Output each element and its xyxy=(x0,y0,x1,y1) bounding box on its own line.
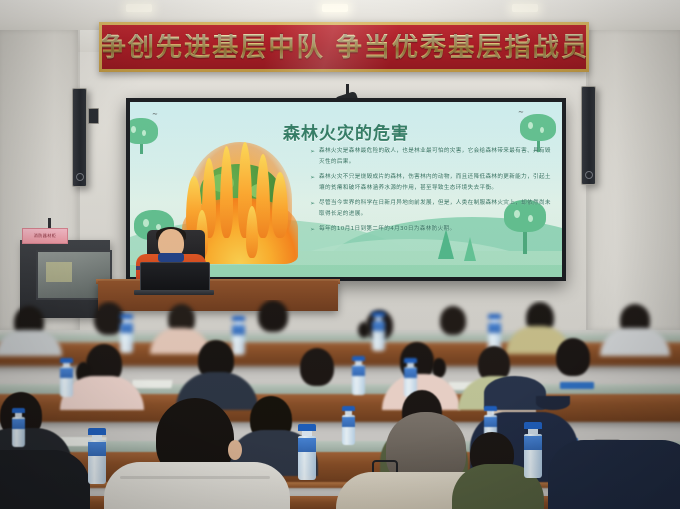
bottle-body xyxy=(524,434,542,478)
bullet-marker-icon: ➢ xyxy=(310,198,315,221)
audience-area xyxy=(0,300,680,509)
bird-icon-left: ∼ xyxy=(152,112,162,117)
bottle-label xyxy=(488,323,501,333)
bullet-marker-icon: ➢ xyxy=(310,224,315,236)
audience-head xyxy=(300,348,334,386)
water-bottle xyxy=(88,428,106,484)
audience-ear xyxy=(228,440,242,460)
presenter-laptop xyxy=(140,262,210,293)
audience-shoulders xyxy=(0,450,90,509)
bottle-body xyxy=(12,417,25,447)
wall-banner: 争创先进基层中队 争当优秀基层指战员 xyxy=(99,22,589,72)
bottle-cap xyxy=(88,428,106,435)
bottle-label xyxy=(12,419,25,429)
water-bottle xyxy=(352,356,365,395)
audience-head xyxy=(258,300,288,332)
bottle-label xyxy=(372,321,385,331)
wall-socket xyxy=(88,108,99,124)
water-bottle xyxy=(342,406,355,445)
bullet-marker-icon: ➢ xyxy=(310,146,315,169)
presenter-laptop-base xyxy=(134,290,214,295)
water-bottle xyxy=(298,424,316,480)
presenter-collar xyxy=(158,253,184,262)
bottle-body xyxy=(120,323,133,353)
slide-title: 森林火灾的危害 xyxy=(130,119,562,144)
jacket-collar-seam xyxy=(120,476,270,479)
bottle-label xyxy=(524,436,542,450)
water-bottle xyxy=(232,316,245,355)
tree-trunk xyxy=(140,144,143,154)
meeting-room-photo: 争创先进基层中队 争当优秀基层指战员 ∼ ∼ xyxy=(0,0,680,509)
wall-speaker-left xyxy=(72,88,87,187)
bullet-text: 每年的10月1日到第二年的4月30日为森林防火期。 xyxy=(319,224,552,236)
bottle-cap xyxy=(298,424,316,431)
audience-shoulders xyxy=(548,440,680,509)
slide-bullet: ➢ 每年的10月1日到第二年的4月30日为森林防火期。 xyxy=(310,224,552,236)
bullet-marker-icon: ➢ xyxy=(310,172,315,195)
bottle-label xyxy=(120,323,133,333)
slide-bullet: ➢ 尽管当今世界的科学在日新月异地向前发展，但是，人类在制服森林火灾上，却依然尚… xyxy=(310,198,552,221)
slide-bullet: ➢ 森林火灾不只是烧毁成片的森林，伤害林内的动物，而且还降低森林的更新能力，引起… xyxy=(310,172,552,195)
water-bottle xyxy=(12,408,25,447)
bottle-label xyxy=(484,417,497,427)
banner-panel: 争创先进基层中队 争当优秀基层指战员 xyxy=(102,25,586,69)
bottle-label xyxy=(232,325,245,335)
slide-bullet: ➢ 森林火灾是森林最危险的敌人，也是林业最可怕的灾害，它会给森林带来最有害、具有… xyxy=(310,146,552,169)
bottle-body xyxy=(298,436,316,480)
bullet-text: 尽管当今世界的科学在日新月异地向前发展，但是，人类在制服森林火灾上，却依然尚未取… xyxy=(319,198,552,221)
bottle-cap xyxy=(524,422,542,429)
audience-head xyxy=(556,338,590,376)
bottle-label xyxy=(404,368,417,378)
water-bottle xyxy=(60,358,73,397)
audience-head xyxy=(440,306,466,335)
cap-brim xyxy=(536,396,570,410)
bottle-label xyxy=(352,366,365,376)
bottle-label xyxy=(342,417,355,427)
cabinet-sign: 消防器材柜 xyxy=(22,228,68,244)
bottle-label xyxy=(60,368,73,378)
bottle-body xyxy=(60,367,73,397)
ceiling-light-right xyxy=(512,4,538,12)
bottle-body xyxy=(342,415,355,445)
audience-ponytail xyxy=(358,322,370,338)
water-bottle xyxy=(120,314,133,353)
bottle-body xyxy=(352,365,365,395)
bottle-body xyxy=(372,321,385,351)
bottle-label xyxy=(88,442,106,456)
slide-bullet-list: ➢ 森林火灾是森林最危险的敌人，也是林业最可怕的灾害，它会给森林带来最有害、具有… xyxy=(310,146,552,239)
ceiling-light-center xyxy=(322,4,348,12)
wall-panel-right xyxy=(588,30,680,330)
ceiling-light-left xyxy=(126,4,152,12)
notebook xyxy=(560,382,594,389)
bottle-label xyxy=(298,438,316,452)
slide-conifer-2 xyxy=(464,237,476,261)
handout-paper xyxy=(131,380,172,388)
bullet-text: 森林火灾是森林最危险的敌人，也是林业最可怕的灾害，它会给森林带来最有害、具有毁灭… xyxy=(319,146,552,169)
bullet-text: 森林火灾不只是烧毁成片的森林，伤害林内的动物，而且还降低森林的更新能力，引起土壤… xyxy=(319,172,552,195)
water-bottle xyxy=(524,422,542,478)
bottle-body xyxy=(232,325,245,355)
bottle-body xyxy=(88,440,106,484)
audience-shoulders xyxy=(104,462,290,509)
wall-speaker-right xyxy=(581,86,596,185)
water-bottle xyxy=(372,312,385,351)
banner-text: 争创先进基层中队 争当优秀基层指战员 xyxy=(102,34,586,61)
